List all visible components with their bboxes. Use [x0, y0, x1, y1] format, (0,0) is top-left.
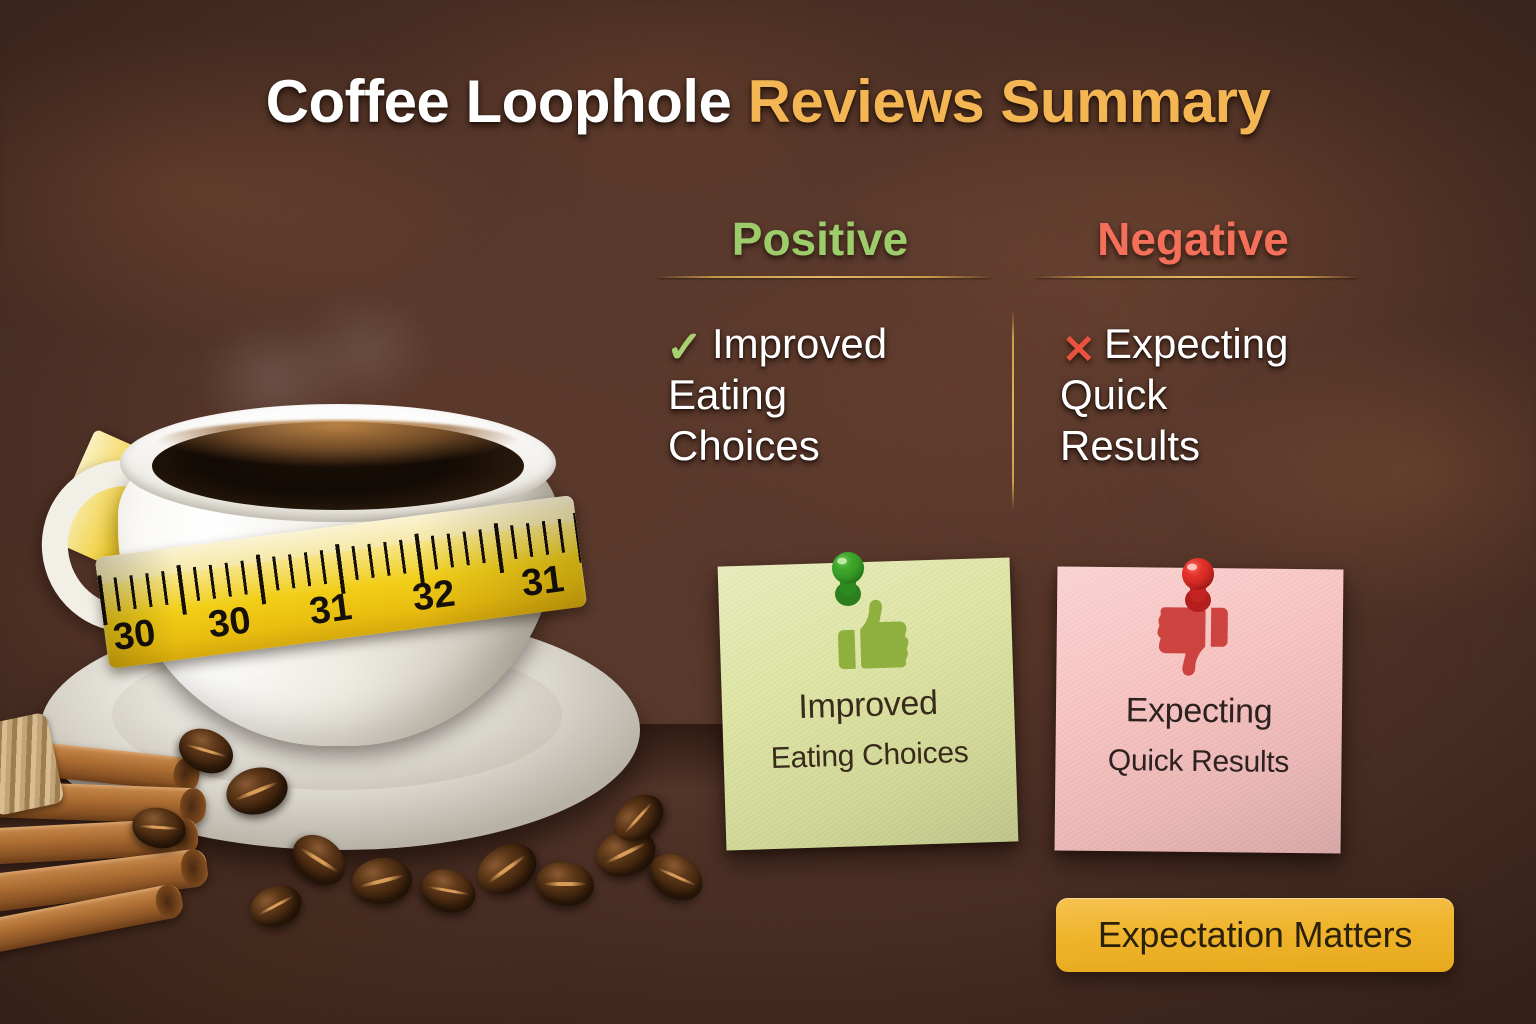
note-line-1: Improved	[798, 686, 938, 726]
column-heading-negative: Negative	[1028, 216, 1358, 262]
positive-line-3: Choices	[668, 420, 968, 471]
column-divider	[1012, 310, 1014, 510]
green-pushpin-icon	[826, 548, 870, 610]
note-line-2: Eating Choices	[770, 737, 968, 775]
column-rule-positive	[658, 276, 990, 278]
column-rule-negative	[1036, 276, 1358, 278]
coffee-bean	[533, 858, 597, 910]
page-title-accent: Reviews Summary	[748, 68, 1271, 135]
coffee-photo: 30 30 31 32 31	[0, 330, 700, 950]
steam-wisp	[190, 290, 470, 440]
negative-line-2: Quick	[1060, 369, 1350, 420]
positive-bullet-text: Improved Eating Choices	[668, 318, 968, 472]
expectation-matters-badge[interactable]: Expectation Matters	[1056, 898, 1454, 972]
badge-label: Expectation Matters	[1098, 917, 1412, 953]
positive-line-1: Improved	[668, 318, 968, 369]
positive-line-2: Eating	[668, 369, 968, 420]
coffee-bean	[415, 862, 481, 919]
twine-tie	[0, 712, 65, 817]
negative-line-1: Expecting	[1060, 318, 1350, 369]
page-title-primary: Coffee Loophole	[266, 68, 732, 135]
note-line-2: Quick Results	[1108, 745, 1289, 778]
negative-line-3: Results	[1060, 420, 1350, 471]
negative-bullet-text: Expecting Quick Results	[1060, 318, 1350, 472]
page-title: Coffee Loophole Reviews Summary	[0, 72, 1536, 132]
red-pushpin-icon	[1176, 554, 1220, 616]
note-line-1: Expecting	[1125, 693, 1272, 730]
infographic-canvas: 30 30 31 32 31	[0, 0, 1536, 1024]
column-heading-positive: Positive	[650, 216, 990, 262]
